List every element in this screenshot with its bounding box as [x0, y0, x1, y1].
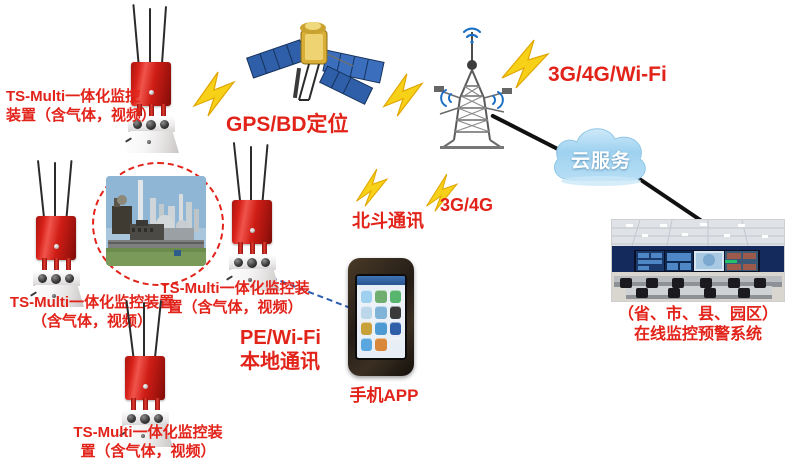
industrial-plant-photo — [106, 176, 206, 266]
link-gps-label: GPS/BD定位 — [226, 112, 349, 138]
mobile-app-device[interactable] — [348, 258, 414, 376]
mobile-app-label: 手机APP — [338, 385, 430, 406]
control-center-label: （省、市、县、园区） 在线监控预警系统 — [600, 305, 796, 345]
device-bottom-left-label: TS-Multi一体化监控装 置（含气体，视频） — [58, 424, 238, 462]
device-top-left[interactable] — [113, 4, 189, 150]
link-beidou-label: 北斗通讯 — [352, 210, 424, 233]
device-mid-left[interactable] — [18, 160, 94, 306]
diagram-canvas: 云服务 — [0, 0, 797, 464]
link-3g4g-label: 3G/4G — [440, 194, 493, 217]
device-top-left-label: TS-Multi一体化监控 装置（含气体，视频） — [6, 88, 156, 126]
lightning-bolt-icon-beidou — [348, 162, 392, 210]
link-3g4gwifi-label: 3G/4G/Wi-Fi — [548, 62, 667, 88]
link-local-label: PE/Wi-Fi 本地通讯 — [240, 326, 321, 374]
control-center-photo — [611, 219, 785, 302]
lightning-bolt-icon-3g4gwifi — [500, 38, 552, 90]
device-center[interactable] — [214, 142, 290, 288]
lightning-bolt-icon-gps-right — [378, 70, 428, 120]
cloud-service-label: 云服务 — [558, 146, 644, 173]
satellite-icon — [243, 8, 387, 112]
